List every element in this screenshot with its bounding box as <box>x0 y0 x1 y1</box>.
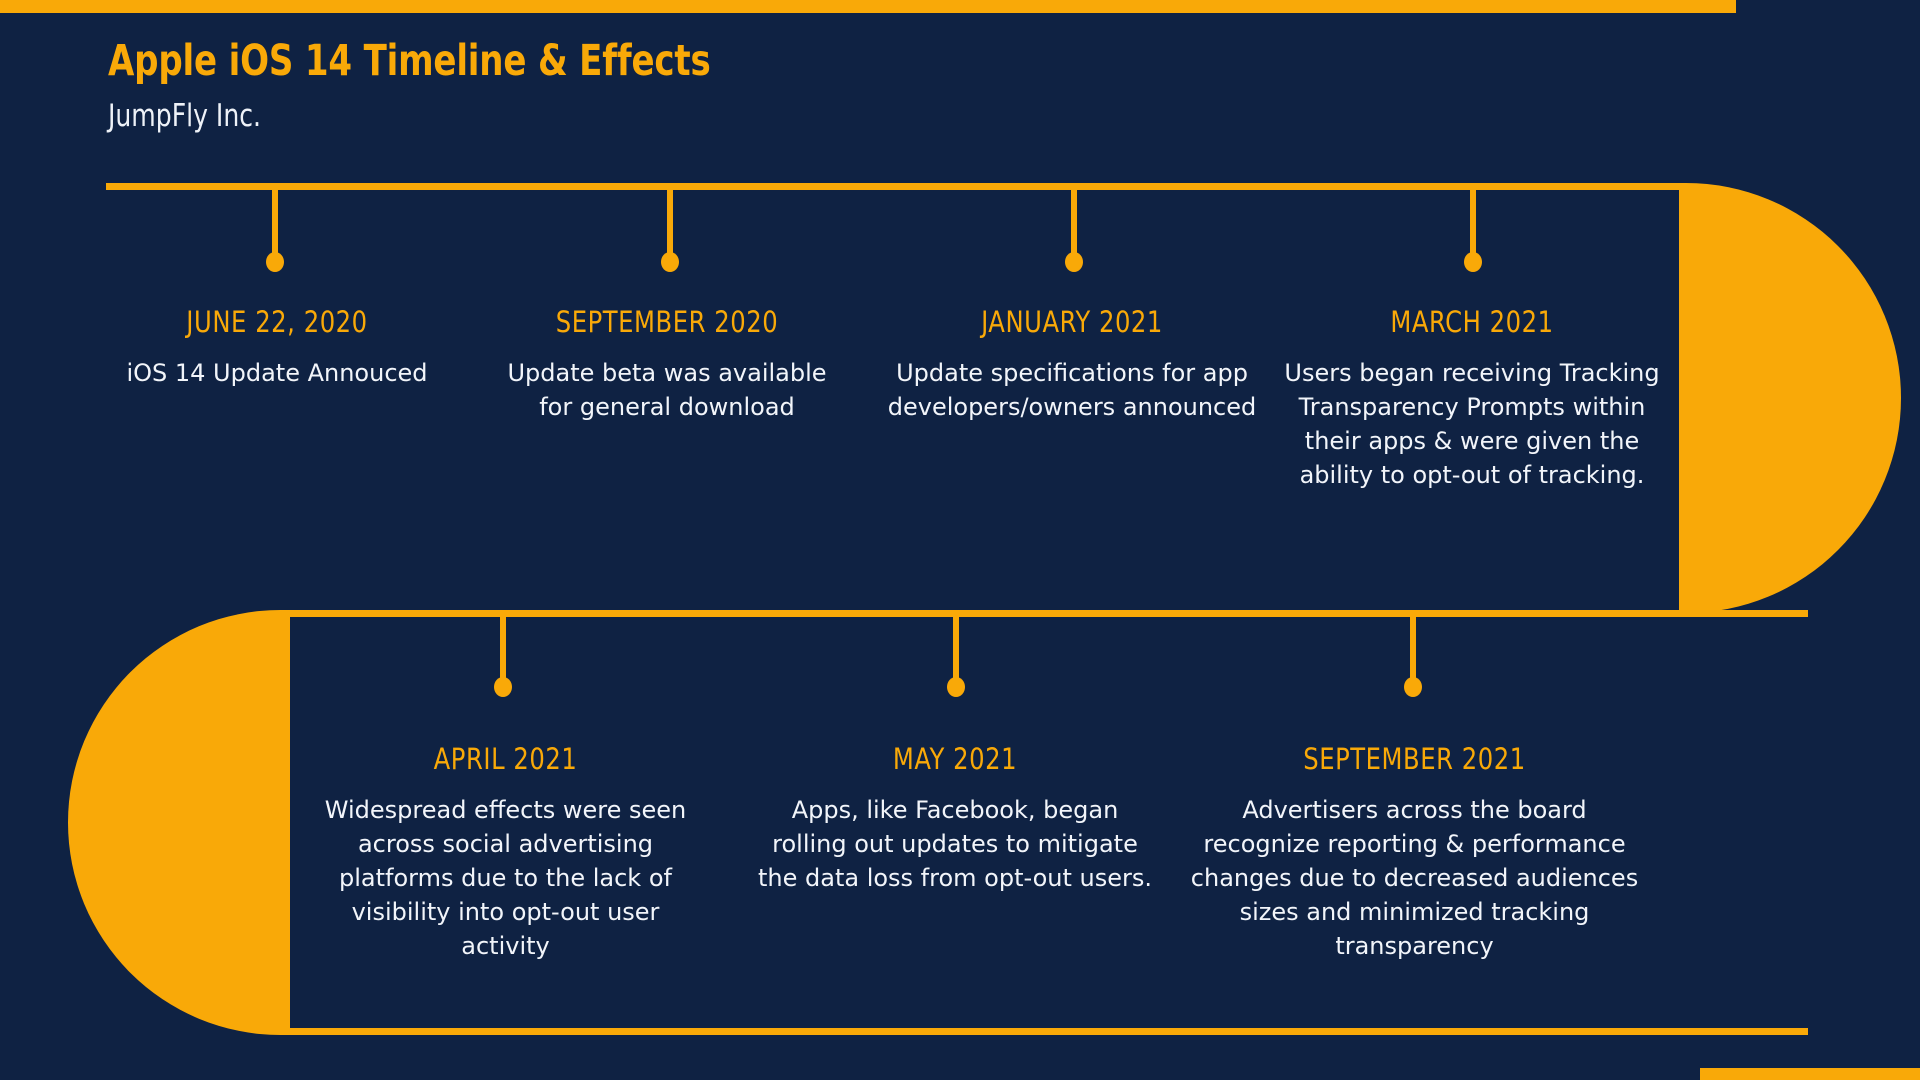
bottom-accent-bar <box>1700 1068 1920 1080</box>
timeline-event-1: JUNE 22, 2020 iOS 14 Update Annouced <box>112 305 442 390</box>
header-block: Apple iOS 14 Timeline & Effects JumpFly … <box>108 36 793 134</box>
timeline-row2-left-connector <box>283 610 290 1035</box>
timeline-event-7: SEPTEMBER 2021 Advertisers across the bo… <box>1182 742 1647 963</box>
event-description: iOS 14 Update Annouced <box>112 356 442 390</box>
timeline-row1-rail <box>106 183 1686 190</box>
marker-stem <box>1071 190 1077 254</box>
timeline-event-4: MARCH 2021 Users began receiving Trackin… <box>1283 305 1661 492</box>
timeline-left-round-cap <box>68 610 283 1035</box>
marker-stem <box>1410 617 1416 679</box>
event-description: Widespread effects were seen across soci… <box>313 793 698 963</box>
marker-stem <box>500 617 506 679</box>
timeline-event-6: MAY 2021 Apps, like Facebook, began roll… <box>755 742 1155 895</box>
timeline-row2-rail <box>283 610 1808 617</box>
event-description: Users began receiving Tracking Transpare… <box>1283 356 1661 492</box>
page-title: Apple iOS 14 Timeline & Effects <box>108 36 711 86</box>
marker-dot <box>661 252 679 272</box>
page-subtitle: JumpFly Inc. <box>108 98 724 134</box>
timeline-event-5: APRIL 2021 Widespread effects were seen … <box>313 742 698 963</box>
marker-dot <box>1065 252 1083 272</box>
marker-dot <box>266 252 284 272</box>
event-description: Apps, like Facebook, began rolling out u… <box>755 793 1155 895</box>
event-date: SEPTEMBER 2020 <box>509 305 825 339</box>
event-description: Advertisers across the board recognize r… <box>1182 793 1647 963</box>
marker-stem <box>667 190 673 254</box>
marker-dot <box>947 677 965 697</box>
event-date: MAY 2021 <box>769 742 1141 776</box>
infographic-canvas: Apple iOS 14 Timeline & Effects JumpFly … <box>0 0 1920 1080</box>
event-date: APRIL 2021 <box>326 742 684 776</box>
marker-stem <box>953 617 959 679</box>
event-date: JUNE 22, 2020 <box>124 305 431 339</box>
marker-dot <box>494 677 512 697</box>
timeline-right-round-cap <box>1686 183 1901 613</box>
marker-stem <box>1470 190 1476 254</box>
event-date: JANUARY 2021 <box>891 305 1254 339</box>
timeline-event-3: JANUARY 2021 Update specifications for a… <box>877 305 1267 424</box>
timeline-row1-right-connector <box>1679 183 1686 613</box>
top-accent-bar <box>0 0 1736 13</box>
event-date: SEPTEMBER 2021 <box>1198 742 1630 776</box>
event-date: MARCH 2021 <box>1296 305 1648 339</box>
marker-dot <box>1464 252 1482 272</box>
event-description: Update beta was available for general do… <box>497 356 837 424</box>
event-description: Update specifications for app developers… <box>877 356 1267 424</box>
marker-stem <box>272 190 278 254</box>
timeline-event-2: SEPTEMBER 2020 Update beta was available… <box>497 305 837 424</box>
timeline-row2-bottom-rail <box>283 1028 1808 1035</box>
marker-dot <box>1404 677 1422 697</box>
